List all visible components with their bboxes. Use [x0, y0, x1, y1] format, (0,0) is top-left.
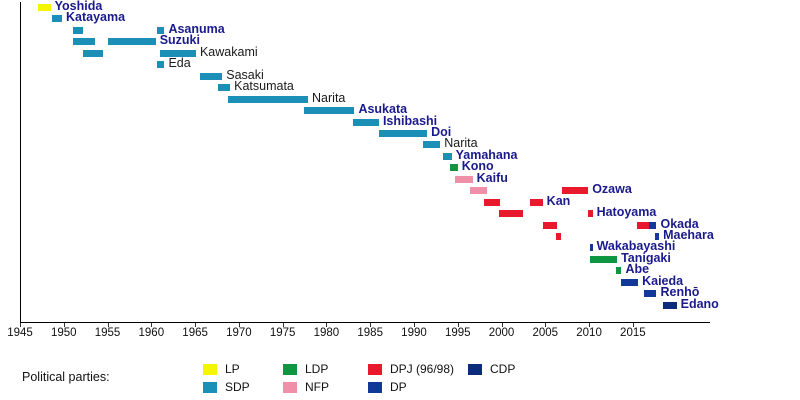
x-tick-label: 1980	[314, 327, 340, 339]
legend-label: SDP	[225, 380, 250, 394]
timeline-bar	[108, 38, 155, 45]
x-tick-label: 1950	[51, 327, 77, 339]
x-tick-label: 2000	[489, 327, 515, 339]
legend-label: LP	[225, 362, 240, 376]
legend-label: CDP	[490, 362, 515, 376]
bar-label: Katsumata	[234, 79, 294, 93]
x-tick-label: 1965	[182, 327, 208, 339]
timeline-bar	[353, 119, 379, 126]
x-tick-label: 2005	[533, 327, 559, 339]
timeline-bar	[543, 222, 557, 229]
bar-label: Kan	[547, 194, 571, 208]
timeline-bar	[649, 222, 656, 229]
timeline-bar	[621, 279, 639, 286]
timeline-bar	[450, 164, 458, 171]
legend-label: NFP	[305, 380, 329, 394]
x-tick-label: 1995	[445, 327, 471, 339]
x-tick-label: 1975	[270, 327, 296, 339]
timeline-bar	[218, 84, 230, 91]
timeline-bar	[304, 107, 355, 114]
timeline-bar	[455, 176, 473, 183]
timeline-bar	[644, 290, 656, 297]
timeline-bar	[73, 27, 83, 34]
timeline-bar	[590, 244, 593, 251]
legend-title: Political parties:	[22, 370, 110, 384]
timeline-bar	[484, 199, 500, 206]
timeline-bar	[157, 61, 164, 68]
timeline-bar	[499, 210, 524, 217]
legend-swatch-dpj	[368, 364, 382, 375]
timeline-bar	[530, 199, 542, 206]
timeline-bar	[616, 267, 621, 274]
x-tick-label: 2010	[576, 327, 602, 339]
table-row: Edano	[0, 299, 800, 313]
timeline-bar	[423, 141, 441, 148]
x-tick-label: 1945	[7, 327, 33, 339]
bar-label: Kaifu	[477, 171, 508, 185]
bar-label: Eda	[168, 56, 190, 70]
timeline-bar	[443, 153, 452, 160]
legend-swatch-dp	[368, 382, 382, 393]
x-tick-label: 1960	[139, 327, 165, 339]
legend-swatch-nfp	[283, 382, 297, 393]
legend-swatch-ldp	[283, 364, 297, 375]
plot-area: YoshidaKatayamaAsanumaSuzukiKawakamiEdaS…	[0, 0, 800, 330]
timeline-bar	[590, 256, 617, 263]
legend-label: DPJ (96/98)	[390, 362, 454, 376]
x-tick-label: 2015	[620, 327, 646, 339]
timeline-bar	[556, 233, 561, 240]
legend-swatch-sdp	[203, 382, 217, 393]
bar-label: Ishibashi	[383, 114, 437, 128]
bar-label: Kawakami	[200, 45, 258, 59]
bar-label: Edano	[681, 297, 719, 311]
x-axis-line	[20, 322, 710, 323]
timeline-bar	[38, 4, 50, 11]
legend-label: LDP	[305, 362, 328, 376]
legend-label: DP	[390, 380, 407, 394]
bar-label: Narita	[312, 91, 345, 105]
x-tick-label: 1985	[357, 327, 383, 339]
bar-label: Suzuki	[160, 33, 200, 47]
legend: Political parties: LPSDPLDPNFPDPJ (96/98…	[0, 358, 800, 400]
timeline-bar	[663, 302, 677, 309]
timeline-bar	[83, 50, 103, 57]
timeline-bar	[228, 96, 308, 103]
x-tick-label: 1990	[401, 327, 427, 339]
timeline-bar	[73, 38, 95, 45]
timeline-bar	[637, 222, 649, 229]
timeline-bar	[52, 15, 62, 22]
timeline-bar	[588, 210, 592, 217]
bar-label: Katayama	[66, 10, 125, 24]
legend-swatch-cdp	[468, 364, 482, 375]
bar-label: Hatoyama	[597, 205, 657, 219]
timeline-bar	[470, 187, 487, 194]
legend-swatch-lp	[203, 364, 217, 375]
timeline-chart: YoshidaKatayamaAsanumaSuzukiKawakamiEdaS…	[0, 0, 800, 400]
x-tick-label: 1955	[95, 327, 121, 339]
timeline-bar	[200, 73, 222, 80]
x-tick-label: 1970	[226, 327, 252, 339]
bar-label: Ozawa	[592, 182, 632, 196]
timeline-bar	[379, 130, 427, 137]
